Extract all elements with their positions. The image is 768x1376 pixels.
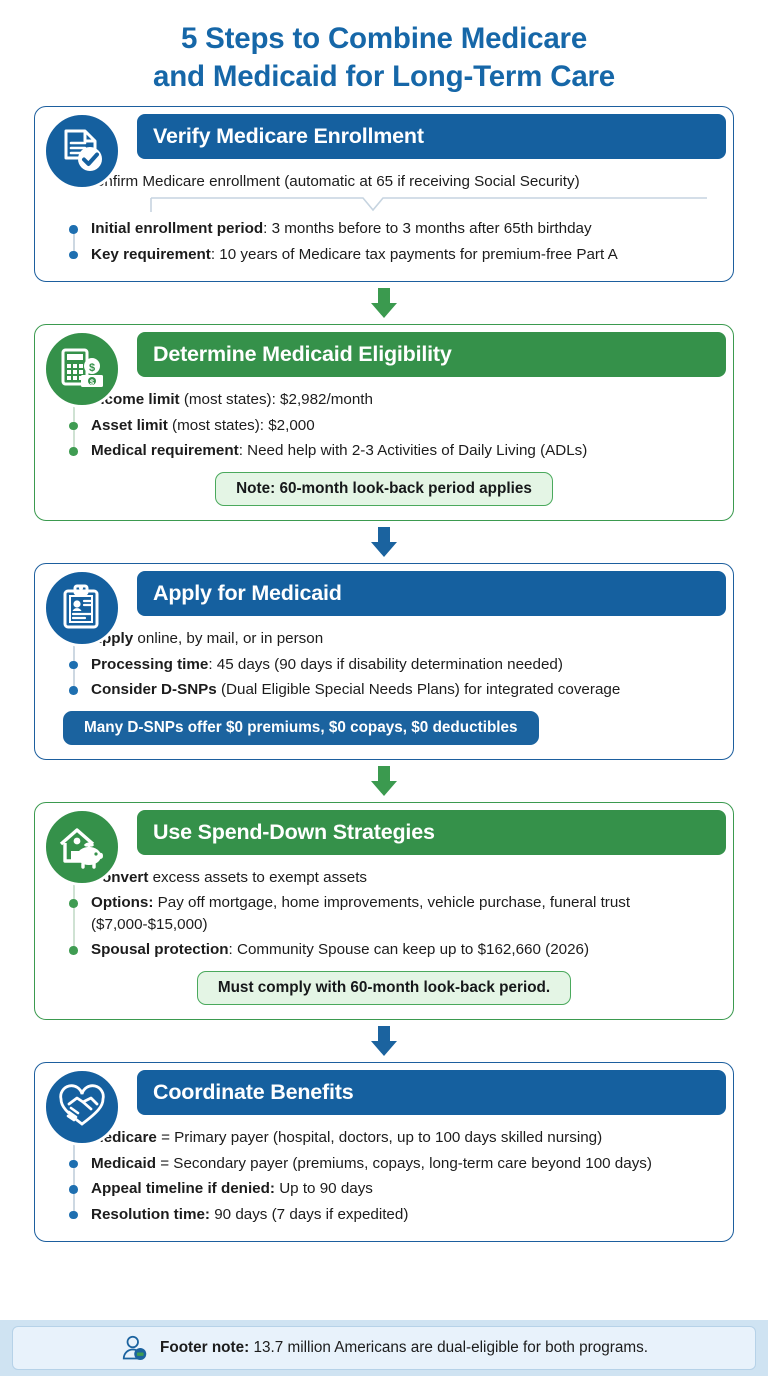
clipboard-form-icon	[43, 569, 121, 647]
step-card-2: $ $ Determine Medicaid Eligibility Incom…	[34, 324, 734, 521]
bullet-lead: Spousal protection	[91, 941, 229, 958]
bullet-item: Medicaid = Secondary payer (premiums, co…	[63, 1153, 719, 1175]
step-1-body: Verify Medicare Enrollment Confirm Medic…	[34, 106, 734, 282]
step-3-heading: Apply for Medicaid	[153, 581, 342, 606]
bullet-lead: Asset limit	[91, 417, 168, 434]
step-1-intro: Confirm Medicare enrollment (automatic a…	[49, 167, 719, 194]
bullet-rest: = Secondary payer (premiums, copays, lon…	[156, 1155, 652, 1172]
footer-lead: Footer note:	[160, 1339, 249, 1356]
step-4-bullets: Convert excess assets to exempt assets O…	[49, 867, 719, 961]
person-badge-icon	[120, 1333, 150, 1363]
steps-list: Verify Medicare Enrollment Confirm Medic…	[0, 106, 768, 1242]
bullet-lead: Processing time	[91, 656, 208, 673]
step-3-body: Apply for Medicaid Apply online, by mail…	[34, 563, 734, 760]
bracket-connector	[49, 196, 719, 214]
bullet-lead: Appeal timeline if denied:	[91, 1180, 275, 1197]
step-2-heading: Determine Medicaid Eligibility	[153, 342, 452, 367]
bullet-rest: 90 days (7 days if expedited)	[210, 1206, 408, 1223]
step-1-heading: Verify Medicare Enrollment	[153, 124, 424, 149]
step-5-content: Medicare = Primary payer (hospital, doct…	[35, 1115, 733, 1241]
bullet-lead: Initial enrollment period	[91, 220, 263, 237]
bullet-rest: Pay off mortgage, home improvements, veh…	[91, 894, 630, 933]
step-4-header: Use Spend-Down Strategies	[137, 810, 726, 855]
bullet-lead: Options:	[91, 894, 153, 911]
footer-text: Footer note: 13.7 million Americans are …	[160, 1339, 648, 1357]
step-arrow-icon	[367, 764, 401, 798]
step-2-callout: Note: 60-month look-back period applies	[215, 472, 553, 506]
title-line-1: 5 Steps to Combine Medicare	[34, 20, 734, 58]
bullet-item: Processing time: 45 days (90 days if dis…	[63, 654, 719, 676]
bullet-rest: (most states): $2,000	[168, 417, 315, 434]
bullet-lead: Resolution time:	[91, 1206, 210, 1223]
step-card-4: Use Spend-Down Strategies Convert excess…	[34, 802, 734, 1020]
bullet-rest: : 45 days (90 days if disability determi…	[208, 656, 563, 673]
step-2-body: $ $ Determine Medicaid Eligibility Incom…	[34, 324, 734, 521]
bullet-item: Medical requirement: Need help with 2-3 …	[63, 440, 719, 462]
bullet-rest: = Primary payer (hospital, doctors, up t…	[157, 1129, 602, 1146]
step-5-header: Coordinate Benefits	[137, 1070, 726, 1115]
bullet-item: Convert excess assets to exempt assets	[63, 867, 719, 889]
step-4-body: Use Spend-Down Strategies Convert excess…	[34, 802, 734, 1020]
house-piggybank-icon	[43, 808, 121, 886]
step-4-callout-row: Must comply with 60-month look-back peri…	[49, 965, 719, 1007]
step-card-3: Apply for Medicaid Apply online, by mail…	[34, 563, 734, 760]
bullet-item: Initial enrollment period: 3 months befo…	[63, 218, 719, 240]
step-3-callout-row: Many D-SNPs offer $0 premiums, $0 copays…	[49, 705, 719, 747]
step-5-bullets: Medicare = Primary payer (hospital, doct…	[49, 1127, 719, 1225]
bullet-lead: Consider D-SNPs	[91, 681, 217, 698]
step-4-heading: Use Spend-Down Strategies	[153, 820, 435, 845]
step-1-header: Verify Medicare Enrollment	[137, 114, 726, 159]
step-3-bullets: Apply online, by mail, or in person Proc…	[49, 628, 719, 701]
bullet-rest: : 10 years of Medicare tax payments for …	[211, 246, 618, 263]
infographic-page: 5 Steps to Combine Medicare and Medicaid…	[0, 0, 768, 1376]
arrow-connector-2	[34, 521, 734, 563]
step-5-body: Coordinate Benefits Medicare = Primary p…	[34, 1062, 734, 1242]
step-card-1: Verify Medicare Enrollment Confirm Medic…	[34, 106, 734, 282]
calculator-money-icon: $ $	[43, 330, 121, 408]
step-arrow-icon	[367, 1024, 401, 1058]
title-line-2: and Medicaid for Long-Term Care	[34, 58, 734, 96]
bullet-item: Options: Pay off mortgage, home improvem…	[63, 892, 719, 935]
step-4-content: Convert excess assets to exempt assets O…	[35, 855, 733, 1019]
bullet-rest: : Community Spouse can keep up to $162,6…	[229, 941, 590, 958]
step-3-content: Apply online, by mail, or in person Proc…	[35, 616, 733, 759]
bullet-item: Income limit (most states): $2,982/month	[63, 389, 719, 411]
step-1-content: Confirm Medicare enrollment (automatic a…	[35, 159, 733, 281]
page-title: 5 Steps to Combine Medicare and Medicaid…	[0, 0, 768, 106]
bullet-lead: Key requirement	[91, 246, 211, 263]
step-2-content: Income limit (most states): $2,982/month…	[35, 377, 733, 520]
bullet-item: Spousal protection: Community Spouse can…	[63, 939, 719, 961]
bullet-rest: online, by mail, or in person	[133, 630, 323, 647]
bullet-lead: Medicaid	[91, 1155, 156, 1172]
step-3-callout: Many D-SNPs offer $0 premiums, $0 copays…	[63, 711, 539, 745]
footer-band: Footer note: 13.7 million Americans are …	[0, 1320, 768, 1376]
arrow-connector-4	[34, 1020, 734, 1062]
step-arrow-icon	[367, 525, 401, 559]
step-2-callout-row: Note: 60-month look-back period applies	[49, 466, 719, 508]
bullet-item: Consider D-SNPs (Dual Eligible Special N…	[63, 679, 719, 701]
step-card-5: Coordinate Benefits Medicare = Primary p…	[34, 1062, 734, 1242]
bullet-item: Medicare = Primary payer (hospital, doct…	[63, 1127, 719, 1149]
bullet-item: Apply online, by mail, or in person	[63, 628, 719, 650]
bullet-rest: Up to 90 days	[275, 1180, 373, 1197]
handshake-icon	[43, 1068, 121, 1146]
arrow-connector-3	[34, 760, 734, 802]
bullet-rest: (Dual Eligible Special Needs Plans) for …	[217, 681, 621, 698]
bullet-rest: (most states): $2,982/month	[180, 391, 373, 408]
bullet-item: Key requirement: 10 years of Medicare ta…	[63, 244, 719, 266]
step-5-heading: Coordinate Benefits	[153, 1080, 353, 1105]
bullet-item: Asset limit (most states): $2,000	[63, 415, 719, 437]
bullet-rest: excess assets to exempt assets	[148, 869, 367, 886]
step-arrow-icon	[367, 286, 401, 320]
svg-text:$: $	[89, 362, 95, 374]
step-2-header: Determine Medicaid Eligibility	[137, 332, 726, 377]
footer-rest: 13.7 million Americans are dual-eligible…	[249, 1339, 648, 1356]
step-3-header: Apply for Medicaid	[137, 571, 726, 616]
bullet-rest: : Need help with 2-3 Activities of Daily…	[239, 442, 588, 459]
footer-note: Footer note: 13.7 million Americans are …	[12, 1326, 756, 1370]
step-2-bullets: Income limit (most states): $2,982/month…	[49, 389, 719, 462]
bullet-item: Resolution time: 90 days (7 days if expe…	[63, 1204, 719, 1226]
arrow-connector-1	[34, 282, 734, 324]
bullet-lead: Medical requirement	[91, 442, 239, 459]
bullet-item: Appeal timeline if denied: Up to 90 days	[63, 1178, 719, 1200]
document-check-icon	[43, 112, 121, 190]
bullet-rest: : 3 months before to 3 months after 65th…	[263, 220, 591, 237]
step-4-callout: Must comply with 60-month look-back peri…	[197, 971, 571, 1005]
step-1-bullets: Initial enrollment period: 3 months befo…	[49, 218, 719, 265]
